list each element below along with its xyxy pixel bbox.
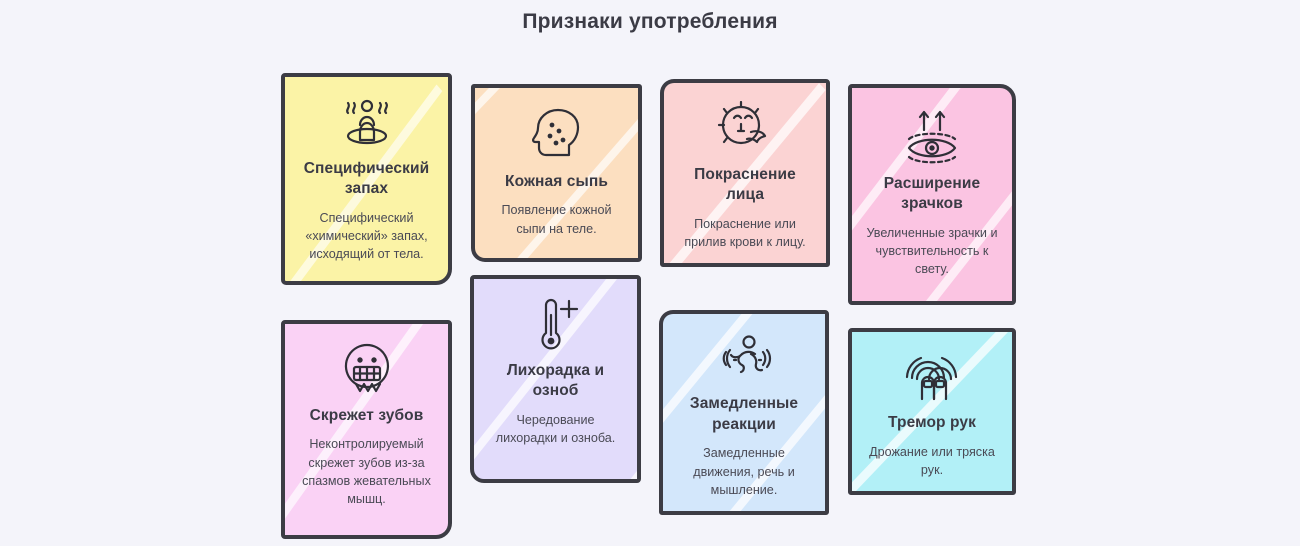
card-description: Замедленные движения, речь и мышление. — [675, 444, 813, 499]
running-person-motion-icon — [713, 328, 775, 388]
card-description: Увеличенные зрачки и чувствительность к … — [864, 224, 1000, 279]
card-title: Скрежет зубов — [310, 406, 424, 426]
card-title: Покраснение лица — [676, 165, 814, 206]
grinding-teeth-face-icon — [338, 338, 396, 400]
card-title: Специфический запах — [297, 159, 436, 200]
trembling-hands-icon — [903, 348, 961, 407]
card-description: Покраснение или прилив крови к лицу. — [676, 215, 814, 252]
card-description: Дрожание или тряска рук. — [864, 443, 1000, 480]
card-teeth-grinding[interactable]: Скрежет зубов Неконтролируемый скрежет з… — [281, 320, 452, 539]
card-title: Кожная сыпь — [505, 172, 608, 192]
eye-dilated-pupil-arrows-icon — [901, 106, 963, 168]
card-description: Чередование лихорадки и озноба. — [486, 411, 625, 448]
card-slowed-reactions[interactable]: Замедленные реакции Замедленные движения… — [659, 310, 829, 515]
card-title: Замедленные реакции — [675, 394, 813, 435]
card-title: Тремор рук — [888, 413, 976, 433]
card-facial-flushing[interactable]: Покраснение лица Покраснение или прилив … — [660, 79, 830, 267]
symptom-card-board: Специфический запах Специфический «химич… — [0, 0, 1300, 546]
person-odor-waves-icon — [336, 91, 398, 153]
card-skin-rash[interactable]: Кожная сыпь Появление кожной сыпи на тел… — [471, 84, 642, 262]
card-title: Лихорадка и озноб — [486, 361, 625, 402]
thermometer-plus-icon — [528, 293, 584, 355]
card-dilated-pupils[interactable]: Расширение зрачков Увеличенные зрачки и … — [848, 84, 1016, 305]
flushed-face-icon — [715, 97, 775, 159]
card-fever-chills[interactable]: Лихорадка и озноб Чередование лихорадки … — [470, 275, 641, 483]
card-title: Расширение зрачков — [864, 174, 1000, 215]
card-description: Специфический «химический» запах, исходя… — [297, 209, 436, 264]
card-hand-tremor[interactable]: Тремор рук Дрожание или тряска рук. — [848, 328, 1016, 495]
head-profile-rash-icon — [528, 104, 586, 166]
card-description: Появление кожной сыпи на теле. — [487, 201, 626, 238]
card-specific-odor[interactable]: Специфический запах Специфический «химич… — [281, 73, 452, 285]
card-description: Неконтролируемый скрежет зубов из-за спа… — [297, 435, 436, 508]
